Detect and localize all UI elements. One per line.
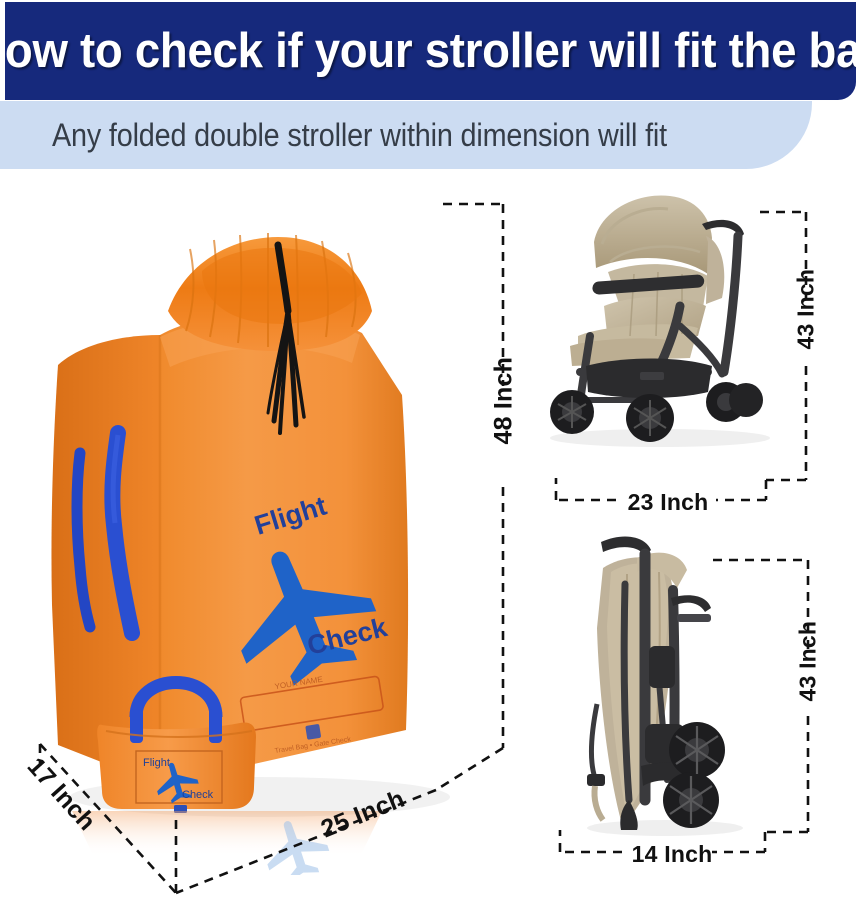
folded-stroller-illustration bbox=[545, 528, 795, 858]
infographic-canvas: How to check if your stroller will fit t… bbox=[0, 0, 861, 900]
upright-stroller-illustration bbox=[530, 186, 820, 486]
upright-stroller-width-label: 23 Inch bbox=[622, 489, 714, 516]
folded-stroller-width-label: 14 Inch bbox=[628, 841, 716, 868]
bag-height-label: 48 Inch bbox=[490, 375, 519, 445]
header-banner: How to check if your stroller will fit t… bbox=[5, 2, 856, 100]
folded-stroller-photo bbox=[545, 528, 795, 858]
stroller-bag-photo: Flight Check YOUR NAME Travel Bag • Gate… bbox=[10, 185, 510, 865]
svg-text:Flight: Flight bbox=[143, 757, 170, 769]
page-subtitle: Any folded double stroller within dimens… bbox=[52, 101, 682, 169]
page-title: How to check if your stroller will fit t… bbox=[35, 2, 826, 100]
svg-text:Check: Check bbox=[182, 789, 214, 801]
bag-illustration: Flight Check YOUR NAME Travel Bag • Gate… bbox=[10, 185, 510, 875]
folded-stroller-height-label: 43 Inch bbox=[795, 640, 822, 702]
upright-stroller-photo bbox=[530, 186, 820, 486]
upright-stroller-height-label: 43 Inch bbox=[793, 288, 820, 350]
